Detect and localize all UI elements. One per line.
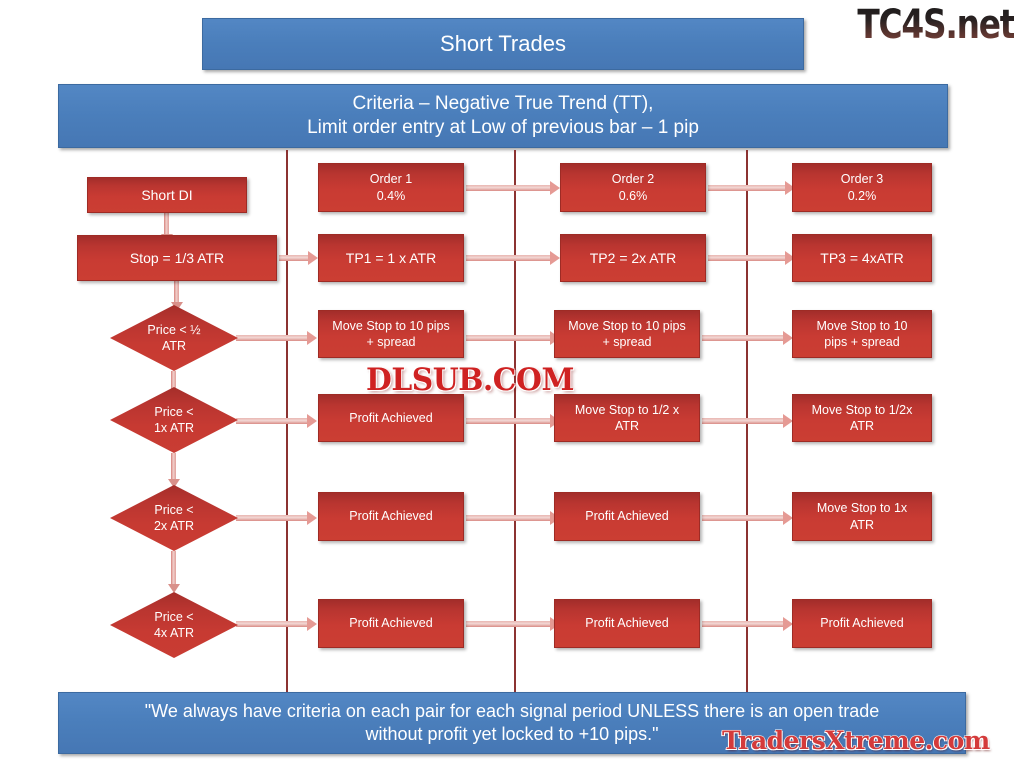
decision-diamond-3-label: Price < 2x ATR	[110, 485, 238, 551]
arrow-action-2-2-to-3-2	[702, 418, 784, 424]
short-di-label: Short DI	[141, 186, 192, 204]
action-1-4-line-1: Profit Achieved	[349, 615, 432, 631]
decision-3-line-1: Price <	[154, 502, 194, 518]
decision-diamond-4[interactable]: Price < 4x ATR	[110, 592, 238, 658]
arrow-tp-2-to-3	[708, 255, 786, 261]
criteria-line-2: Limit order entry at Low of previous bar…	[307, 116, 699, 140]
action-col-3-row-2[interactable]: Move Stop to 1/2x ATR	[792, 394, 932, 442]
action-2-4-line-1: Profit Achieved	[585, 615, 668, 631]
arrow-short-di-to-stop	[164, 213, 169, 235]
action-3-1-line-2: pips + spread	[816, 334, 907, 350]
action-2-3-line-1: Profit Achieved	[585, 508, 668, 524]
tp-3-box[interactable]: TP3 = 4xATR	[792, 234, 932, 282]
tp-3-label: TP3 = 4xATR	[820, 249, 903, 267]
decision-4-line-2: 4x ATR	[154, 625, 194, 641]
arrow-action-2-4-to-3-4	[702, 621, 784, 627]
action-1-3-line-1: Profit Achieved	[349, 508, 432, 524]
action-col-3-row-3[interactable]: Move Stop to 1x ATR	[792, 492, 932, 541]
action-3-3-line-2: ATR	[817, 517, 907, 533]
decision-4-line-1: Price <	[154, 609, 194, 625]
order-2-box[interactable]: Order 2 0.6%	[560, 163, 706, 212]
action-3-2-line-2: ATR	[812, 418, 913, 434]
arrow-action-1-3-to-2-3	[466, 515, 551, 521]
tp-1-label: TP1 = 1 x ATR	[346, 249, 436, 267]
action-col-2-row-4[interactable]: Profit Achieved	[554, 599, 700, 648]
action-3-3-line-1: Move Stop to 1x	[817, 500, 907, 516]
short-di-box[interactable]: Short DI	[87, 177, 247, 213]
tp-2-label: TP2 = 2x ATR	[590, 249, 677, 267]
decision-2-line-2: 1x ATR	[154, 420, 194, 436]
action-2-2-line-2: ATR	[575, 418, 679, 434]
order-1-box[interactable]: Order 1 0.4%	[318, 163, 464, 212]
action-2-1-line-1: Move Stop to 10 pips	[568, 318, 685, 334]
arrow-action-1-2-to-2-2	[466, 418, 551, 424]
action-col-1-row-4[interactable]: Profit Achieved	[318, 599, 464, 648]
action-col-3-row-1[interactable]: Move Stop to 10 pips + spread	[792, 310, 932, 358]
decision-diamond-2-label: Price < 1x ATR	[110, 387, 238, 453]
arrow-action-2-1-to-3-1	[702, 335, 784, 341]
arrow-order-2-to-3	[708, 185, 786, 191]
decision-1-line-2: ATR	[147, 338, 200, 354]
arrow-stop-to-decision-1	[174, 281, 179, 303]
arrow-decision-2-to-3	[171, 453, 176, 480]
action-3-4-line-1: Profit Achieved	[820, 615, 903, 631]
decision-diamond-2[interactable]: Price < 1x ATR	[110, 387, 238, 453]
order-1-size: 0.4%	[370, 188, 412, 204]
action-1-1-line-2: + spread	[332, 334, 449, 350]
decision-diamond-1[interactable]: Price < ½ ATR	[110, 305, 238, 371]
arrow-action-1-1-to-2-1	[466, 335, 551, 341]
action-col-2-row-1[interactable]: Move Stop to 10 pips + spread	[554, 310, 700, 358]
arrow-decision-1-to-action-1-1	[236, 335, 308, 341]
dlsub-watermark: DLSUB.COM	[366, 362, 574, 398]
arrow-stop-to-tp1	[279, 255, 309, 261]
order-2-title: Order 2	[612, 171, 654, 187]
tp-2-box[interactable]: TP2 = 2x ATR	[560, 234, 706, 282]
arrow-decision-3-to-4	[171, 551, 176, 585]
footer-line-1: "We always have criteria on each pair fo…	[145, 700, 879, 723]
decision-3-line-2: 2x ATR	[154, 518, 194, 534]
order-3-title: Order 3	[841, 171, 883, 187]
action-3-2-line-1: Move Stop to 1/2x	[812, 402, 913, 418]
action-2-1-line-2: + spread	[568, 334, 685, 350]
action-col-1-row-3[interactable]: Profit Achieved	[318, 492, 464, 541]
slide-canvas: TC4S.net Short Trades Criteria – Negativ…	[0, 0, 1024, 768]
criteria-line-1: Criteria – Negative True Trend (TT),	[307, 92, 699, 116]
decision-2-line-1: Price <	[154, 404, 194, 420]
page-title: Short Trades	[202, 18, 804, 70]
stop-box[interactable]: Stop = 1/3 ATR	[77, 235, 277, 281]
action-col-1-row-2[interactable]: Profit Achieved	[318, 394, 464, 442]
arrow-decision-4-to-action-1-4	[236, 621, 308, 627]
arrow-tp-1-to-2	[466, 255, 551, 261]
page-title-text: Short Trades	[440, 30, 566, 58]
order-2-size: 0.6%	[612, 188, 654, 204]
action-1-2-line-1: Profit Achieved	[349, 410, 432, 426]
arrow-action-1-4-to-2-4	[466, 621, 551, 627]
action-col-2-row-3[interactable]: Profit Achieved	[554, 492, 700, 541]
arrow-action-2-3-to-3-3	[702, 515, 784, 521]
order-1-title: Order 1	[370, 171, 412, 187]
action-3-1-line-1: Move Stop to 10	[816, 318, 907, 334]
decision-diamond-4-label: Price < 4x ATR	[110, 592, 238, 658]
action-col-1-row-1[interactable]: Move Stop to 10 pips + spread	[318, 310, 464, 358]
stop-label: Stop = 1/3 ATR	[130, 249, 224, 267]
action-2-2-line-1: Move Stop to 1/2 x	[575, 402, 679, 418]
decision-1-line-1: Price < ½	[147, 322, 200, 338]
tc4s-brand-logo: TC4S.net	[857, 2, 1014, 48]
tp-1-box[interactable]: TP1 = 1 x ATR	[318, 234, 464, 282]
tradersxtreme-logo: TradersXtreme.com	[722, 726, 990, 755]
decision-diamond-1-label: Price < ½ ATR	[110, 305, 238, 371]
arrow-order-1-to-2	[466, 185, 551, 191]
criteria-banner: Criteria – Negative True Trend (TT), Lim…	[58, 84, 948, 148]
order-3-size: 0.2%	[841, 188, 883, 204]
order-3-box[interactable]: Order 3 0.2%	[792, 163, 932, 212]
arrow-decision-2-to-action-1-2	[236, 418, 308, 424]
action-col-2-row-2[interactable]: Move Stop to 1/2 x ATR	[554, 394, 700, 442]
action-col-3-row-4[interactable]: Profit Achieved	[792, 599, 932, 648]
decision-diamond-3[interactable]: Price < 2x ATR	[110, 485, 238, 551]
arrow-decision-3-to-action-1-3	[236, 515, 308, 521]
action-1-1-line-1: Move Stop to 10 pips	[332, 318, 449, 334]
